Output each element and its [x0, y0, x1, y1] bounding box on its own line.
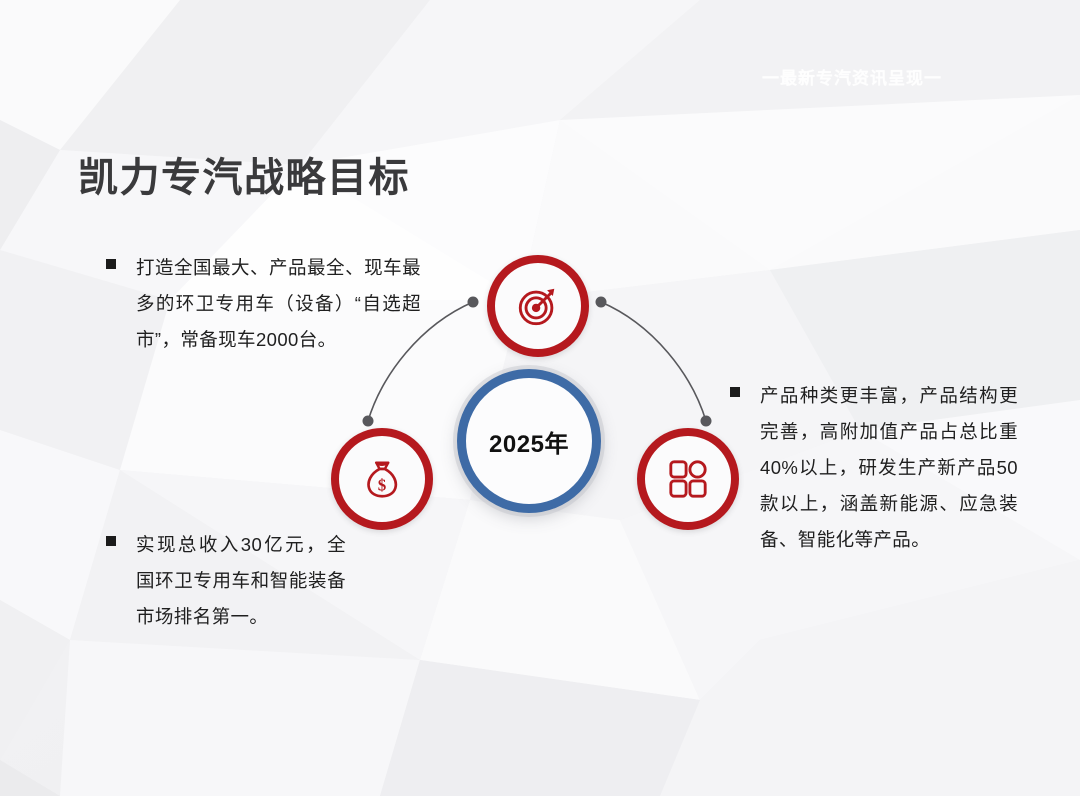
bullet-item-right: 产品种类更丰富，产品结构更完善，高附加值产品占总比重40%以上，研发生产新产品5… [730, 378, 1018, 558]
target-icon [515, 283, 561, 329]
money-bag-icon: $ [359, 456, 405, 502]
bullet-text-right: 产品种类更丰富，产品结构更完善，高附加值产品占总比重40%以上，研发生产新产品5… [760, 378, 1018, 558]
connector-dot-target-right [596, 297, 607, 308]
connector-dot-target-left [468, 297, 479, 308]
page-title: 凯力专汽战略目标 [78, 145, 410, 203]
bullet-square-icon [106, 259, 116, 269]
bullet-text-top-left: 打造全国最大、产品最全、现车最多的环卫专用车（设备）“自选超市”，常备现车200… [136, 250, 421, 358]
bullet-square-icon [106, 536, 116, 546]
node-product-grid[interactable] [637, 428, 739, 530]
year-label: 2025年 [489, 424, 569, 459]
node-money-bag[interactable]: $ [331, 428, 433, 530]
bullet-square-icon [730, 387, 740, 397]
center-year-node[interactable]: 2025年 [457, 369, 601, 513]
product-grid-icon [667, 458, 709, 500]
connector-dot-grid-top [701, 416, 712, 427]
bullet-text-bottom-left: 实现总收入30亿元，全国环卫专用车和智能装备市场排名第一。 [136, 527, 346, 635]
node-target[interactable] [487, 255, 589, 357]
slide-canvas: 一最新专汽资讯呈现一 凯力专汽战略目标 打造全国最大、产品最全、现车最多的环卫专… [0, 0, 1080, 796]
svg-text:$: $ [378, 476, 387, 495]
connector-dot-money-top [363, 416, 374, 427]
bullet-item-bottom-left: 实现总收入30亿元，全国环卫专用车和智能装备市场排名第一。 [106, 527, 361, 635]
bullet-item-top-left: 打造全国最大、产品最全、现车最多的环卫专用车（设备）“自选超市”，常备现车200… [106, 250, 436, 358]
